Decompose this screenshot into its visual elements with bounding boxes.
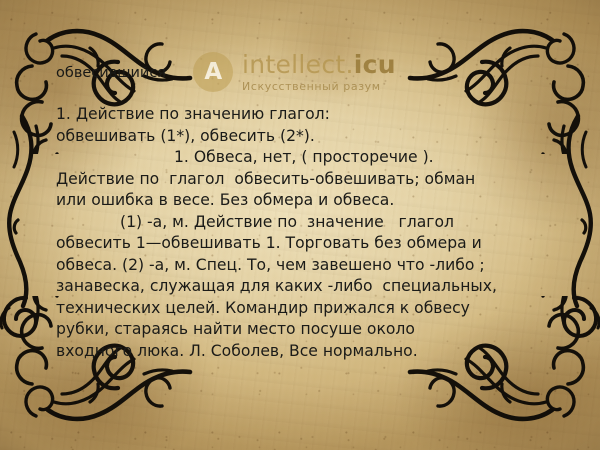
- parchment-page: A intellect.icu Искусственный разум обве…: [0, 0, 600, 450]
- page-vignette: [0, 0, 600, 450]
